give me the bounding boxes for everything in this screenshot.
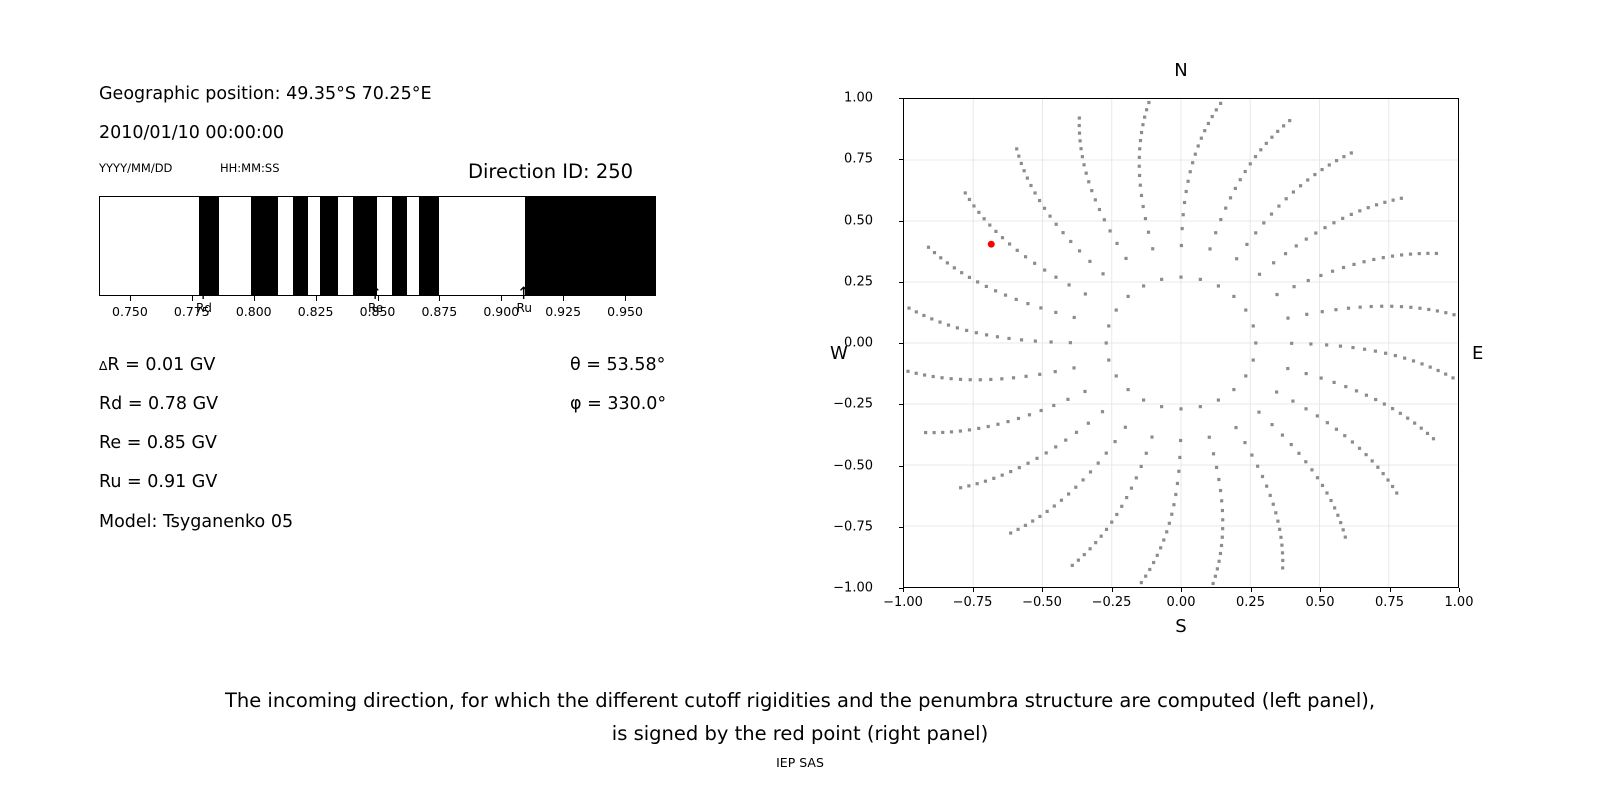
direction-dot — [1374, 398, 1377, 401]
direction-dot — [1130, 487, 1133, 490]
penumbra-bar-container — [99, 196, 656, 296]
direction-dot — [969, 378, 972, 381]
direction-dot — [1444, 373, 1447, 376]
direction-dot — [1321, 310, 1324, 313]
direction-dot — [1355, 389, 1358, 392]
x-axis-tick — [973, 588, 974, 592]
direction-dot — [1009, 531, 1012, 534]
penumbra-forbidden-band — [320, 197, 337, 295]
arrow-up-icon: ↑ — [368, 288, 382, 301]
direction-dot — [1358, 447, 1361, 450]
direction-dot — [1034, 339, 1037, 342]
direction-dot — [1359, 306, 1362, 309]
penumbra-forbidden-band — [293, 197, 308, 295]
direction-dot — [1320, 376, 1323, 379]
direction-dot — [1276, 130, 1279, 133]
direction-dot — [1436, 369, 1439, 372]
direction-dot — [1212, 582, 1215, 585]
y-axis-tick-label: −1.00 — [833, 581, 873, 596]
direction-dot — [1328, 163, 1331, 166]
direction-dot — [1127, 295, 1130, 298]
direction-dot — [1191, 161, 1194, 164]
scatter-plot-svg — [904, 99, 1458, 587]
direction-dot — [1277, 204, 1280, 207]
direction-dot — [1426, 432, 1429, 435]
direction-dot — [1329, 499, 1332, 502]
value-phi: φ = 330.0° — [570, 394, 666, 414]
direction-dot — [1371, 459, 1374, 462]
penumbra-axis-tick — [625, 296, 626, 301]
penumbra-forbidden-band — [353, 197, 378, 295]
penumbra-axis: 0.7500.7750.8000.8250.8500.8750.9000.925… — [99, 296, 656, 308]
direction-dot — [1064, 439, 1067, 442]
left-panel: Geographic position: 49.35°S 70.25°E 201… — [0, 0, 800, 680]
direction-dot — [1250, 453, 1253, 456]
x-axis-tick — [1459, 588, 1460, 592]
direction-dot — [1140, 131, 1143, 134]
direction-dot — [1115, 374, 1118, 377]
geographic-position-text: Geographic position: 49.35°S 70.25°E — [99, 84, 432, 104]
direction-dot — [1418, 307, 1421, 310]
direction-dot — [1342, 266, 1345, 269]
direction-dot — [1305, 238, 1308, 241]
direction-dot — [1017, 417, 1020, 420]
direction-dot — [1147, 231, 1150, 234]
direction-dot — [1046, 510, 1049, 513]
direction-dot — [976, 482, 979, 485]
direction-dot — [1000, 377, 1003, 380]
direction-dot — [1077, 559, 1080, 562]
direction-dot — [907, 306, 910, 309]
direction-dot — [1039, 306, 1042, 309]
direction-dot — [1276, 520, 1279, 523]
direction-dot — [1105, 341, 1108, 344]
direction-dot — [1292, 285, 1295, 288]
direction-dot — [1181, 227, 1184, 230]
direction-dot — [1364, 453, 1367, 456]
direction-dot — [979, 378, 982, 381]
direction-dot — [1219, 552, 1222, 555]
direction-dot — [1427, 308, 1430, 311]
direction-dot — [1055, 223, 1058, 226]
direction-dot — [1313, 173, 1316, 176]
direction-dot — [1284, 252, 1287, 255]
direction-dot — [1078, 116, 1081, 119]
direction-dot — [994, 230, 997, 233]
direction-dot — [1006, 420, 1009, 423]
direction-dot — [1342, 528, 1345, 531]
direction-dot — [1392, 199, 1395, 202]
direction-dot — [1249, 162, 1252, 165]
direction-dot — [1394, 354, 1397, 357]
figure-caption: The incoming direction, for which the di… — [0, 684, 1600, 750]
x-axis-tick-label: −0.25 — [1092, 595, 1132, 610]
direction-dot — [1235, 257, 1238, 260]
direction-dot — [1179, 439, 1182, 442]
direction-dot — [1331, 270, 1334, 273]
direction-dot — [1362, 260, 1365, 263]
direction-dot — [1426, 252, 1429, 255]
direction-dot — [1429, 366, 1432, 369]
direction-dot — [1321, 484, 1324, 487]
direction-dot — [1038, 373, 1041, 376]
direction-dot — [906, 370, 909, 373]
direction-dot — [1275, 293, 1278, 296]
direction-dot — [1009, 470, 1012, 473]
direction-dot — [1280, 544, 1283, 547]
y-axis-tick-label: 0.25 — [844, 274, 873, 289]
penumbra-axis-tick — [563, 296, 564, 301]
direction-dot — [1281, 433, 1284, 436]
y-axis-tick-label: 0.75 — [844, 152, 873, 167]
direction-dot — [1075, 431, 1078, 434]
footer-text: IEP SAS — [0, 755, 1600, 770]
direction-dot — [1043, 207, 1046, 210]
direction-dot — [1307, 279, 1310, 282]
direction-dot — [1254, 231, 1257, 234]
direction-dot — [1367, 206, 1370, 209]
x-axis-tick — [1042, 588, 1043, 592]
direction-dot — [1072, 366, 1075, 369]
direction-dot — [959, 378, 962, 381]
direction-dot — [1239, 178, 1242, 181]
plot-frame — [903, 98, 1459, 588]
direction-dot — [1400, 253, 1403, 256]
direction-dot — [1406, 417, 1409, 420]
direction-dot — [1018, 466, 1021, 469]
direction-dot — [1135, 476, 1138, 479]
direction-dot — [1078, 124, 1081, 127]
direction-dot — [959, 486, 962, 489]
date-format-hint: YYYY/MM/DD — [99, 161, 172, 175]
direction-dot — [1066, 398, 1069, 401]
direction-dot — [1220, 544, 1223, 547]
direction-dot — [1186, 180, 1189, 183]
direction-dot — [988, 223, 991, 226]
direction-dot — [1272, 503, 1275, 506]
penumbra-axis-tick-label: 0.800 — [236, 304, 272, 319]
direction-dot — [1343, 434, 1346, 437]
direction-dot — [1017, 155, 1020, 158]
direction-dot — [976, 280, 979, 283]
direction-dot — [1391, 485, 1394, 488]
direction-dot — [1015, 298, 1018, 301]
direction-dot — [1334, 308, 1337, 311]
direction-dot — [1214, 231, 1217, 234]
direction-dot — [1278, 528, 1281, 531]
direction-dot — [1053, 504, 1056, 507]
direction-dot — [1265, 142, 1268, 145]
direction-dot — [1316, 476, 1319, 479]
direction-dot — [1245, 243, 1248, 246]
direction-dot — [1125, 496, 1128, 499]
direction-dot — [1127, 388, 1130, 391]
x-axis-tick — [1181, 588, 1182, 592]
direction-dot — [1214, 575, 1217, 578]
direction-dot — [1288, 119, 1291, 122]
penumbra-forbidden-band — [419, 197, 439, 295]
direction-dot — [1140, 194, 1143, 197]
direction-dot — [1220, 499, 1223, 502]
direction-dot — [968, 198, 971, 201]
direction-dot — [1215, 108, 1218, 111]
direction-dot — [1208, 247, 1211, 250]
compass-label-south: S — [1175, 616, 1186, 637]
direction-dot — [1089, 470, 1092, 473]
direction-dot — [1180, 244, 1183, 247]
direction-dot — [1110, 521, 1113, 524]
direction-dot — [994, 289, 997, 292]
direction-dot — [1028, 413, 1031, 416]
direction-dot — [1107, 324, 1110, 327]
direction-dot — [1435, 252, 1438, 255]
direction-dot — [1115, 242, 1118, 245]
direction-dot — [1012, 376, 1015, 379]
direction-dot — [1221, 518, 1224, 521]
direction-dot — [1108, 229, 1111, 232]
direction-dot — [1350, 151, 1353, 154]
penumbra-axis-tick-label: 0.925 — [545, 304, 581, 319]
direction-dot — [1281, 566, 1284, 569]
direction-dot — [940, 376, 943, 379]
direction-dot — [1148, 568, 1151, 571]
direction-dot — [1141, 123, 1144, 126]
direction-dot — [1386, 478, 1389, 481]
direction-dot — [1320, 168, 1323, 171]
direction-dot — [1436, 309, 1439, 312]
direction-dot — [1162, 538, 1165, 541]
direction-dot — [1412, 359, 1415, 362]
direction-dot — [1452, 313, 1455, 316]
direction-dot — [1090, 189, 1093, 192]
direction-dot — [1151, 247, 1154, 250]
direction-dot — [1351, 346, 1354, 349]
direction-dot — [1281, 551, 1284, 554]
direction-dot — [1400, 197, 1403, 200]
penumbra-axis-tick-label: 0.875 — [421, 304, 457, 319]
direction-dot — [1409, 253, 1412, 256]
direction-dot — [1351, 440, 1354, 443]
direction-dot — [1217, 284, 1220, 287]
direction-dot — [1078, 132, 1081, 135]
direction-dot — [1124, 257, 1127, 260]
direction-dot — [1217, 478, 1220, 481]
direction-dot — [964, 191, 967, 194]
direction-dot — [1420, 362, 1423, 365]
direction-dot — [1194, 153, 1197, 156]
direction-dot — [1290, 443, 1293, 446]
direction-dot — [1314, 231, 1317, 234]
direction-dot — [1399, 412, 1402, 415]
direction-dot — [1384, 352, 1387, 355]
value-delta-r: ∆R = 0.01 GV — [99, 355, 215, 375]
direction-dot — [1252, 358, 1255, 361]
direction-dot — [1403, 357, 1406, 360]
direction-dot — [1270, 136, 1273, 139]
direction-dot — [1124, 426, 1127, 429]
direction-dot — [933, 251, 936, 254]
direction-dot — [953, 266, 956, 269]
direction-dot — [1152, 561, 1155, 564]
direction-dot — [1291, 399, 1294, 402]
direction-dot — [1176, 482, 1179, 485]
direction-dot — [1344, 536, 1347, 539]
direction-dot — [1035, 457, 1038, 460]
direction-dot — [959, 429, 962, 432]
direction-dot — [1144, 575, 1147, 578]
direction-dot — [972, 204, 975, 207]
direction-dot — [1197, 144, 1200, 147]
direction-dot — [1370, 305, 1373, 308]
direction-dot — [1306, 178, 1309, 181]
direction-dot — [1103, 218, 1106, 221]
direction-dot — [1304, 460, 1307, 463]
direction-dot — [1138, 165, 1141, 168]
direction-dot — [1409, 306, 1412, 309]
direction-dot — [983, 217, 986, 220]
direction-dot — [1087, 422, 1090, 425]
direction-dot — [1054, 276, 1057, 279]
direction-dot — [1297, 452, 1300, 455]
direction-dot — [1316, 414, 1319, 417]
y-axis-tick — [899, 527, 903, 528]
direction-dot — [927, 246, 930, 249]
direction-dot — [965, 329, 968, 332]
penumbra-axis-tick — [254, 296, 255, 301]
direction-dot — [1391, 407, 1394, 410]
penumbra-marker-rd: ↑Rd — [196, 288, 210, 316]
direction-dot — [1115, 308, 1118, 311]
direction-dot — [930, 317, 933, 320]
direction-dot — [1138, 174, 1141, 177]
direction-dot — [1020, 162, 1023, 165]
direction-dot — [1339, 345, 1342, 348]
direction-dot — [1413, 422, 1416, 425]
direction-dot — [1094, 198, 1097, 201]
direction-dot — [1020, 338, 1023, 341]
direction-dot — [1295, 244, 1298, 247]
direction-id-text: Direction ID: 250 — [468, 160, 633, 183]
direction-dot — [977, 211, 980, 214]
direction-dot — [1451, 376, 1454, 379]
compass-label-north: N — [1174, 60, 1187, 81]
direction-dot — [1332, 221, 1335, 224]
direction-dot — [1078, 249, 1081, 252]
direction-dot — [1189, 170, 1192, 173]
direction-dot — [1383, 402, 1386, 405]
y-axis-tick — [899, 98, 903, 99]
direction-dot — [1179, 407, 1182, 410]
direction-dot — [1101, 272, 1104, 275]
direction-dot — [1285, 197, 1288, 200]
direction-dot — [1140, 581, 1143, 584]
direction-dot — [1142, 284, 1145, 287]
direction-dot — [1071, 564, 1074, 567]
direction-dot — [1325, 491, 1328, 494]
y-axis-tick-label: 0.00 — [844, 336, 873, 351]
value-re: Re = 0.85 GV — [99, 433, 217, 453]
direction-dot — [1113, 440, 1116, 443]
direction-dot — [1286, 317, 1289, 320]
time-format-hint: HH:MM:SS — [220, 161, 280, 175]
direction-dot — [1221, 509, 1224, 512]
direction-dot — [938, 321, 941, 324]
direction-dot — [1365, 394, 1368, 397]
direction-dot — [1083, 553, 1086, 556]
direction-dot — [1094, 541, 1097, 544]
direction-dot — [1033, 262, 1036, 265]
arrow-up-icon: ↑ — [517, 288, 531, 301]
direction-dot — [1310, 468, 1313, 471]
direction-dot — [1024, 375, 1027, 378]
direction-dot — [1185, 190, 1188, 193]
direction-dot — [1244, 374, 1247, 377]
direction-dot — [1138, 147, 1141, 150]
direction-dot — [1319, 274, 1322, 277]
direction-dot — [1144, 217, 1147, 220]
penumbra-axis-tick — [439, 296, 440, 301]
direction-dot — [1182, 213, 1185, 216]
direction-dot — [1212, 452, 1215, 455]
penumbra-forbidden-band — [199, 197, 219, 295]
direction-dot — [922, 314, 925, 317]
direction-dot — [1179, 276, 1182, 279]
direction-dot — [1374, 350, 1377, 353]
caption-line-2: is signed by the red point (right panel) — [0, 717, 1600, 750]
y-axis-tick-label: −0.50 — [833, 458, 873, 473]
direction-dot — [1244, 308, 1247, 311]
direction-dot — [1139, 184, 1142, 187]
direction-dot — [1040, 409, 1043, 412]
direction-dot — [1224, 207, 1227, 210]
direction-dot — [1200, 137, 1203, 140]
direction-dot — [932, 375, 935, 378]
direction-dot — [1290, 342, 1293, 345]
direction-dot — [1054, 370, 1057, 373]
direction-dot — [1380, 305, 1383, 308]
direction-dot — [1069, 341, 1072, 344]
direction-dot — [1052, 404, 1055, 407]
direction-scatter-panel: N S W E −1.00−0.75−0.50−0.250.000.250.50… — [820, 40, 1520, 660]
direction-dot — [1221, 536, 1224, 539]
direction-dot — [1015, 147, 1018, 150]
direction-dot — [1432, 437, 1435, 440]
x-axis-tick — [1251, 588, 1252, 592]
direction-dot — [1350, 213, 1353, 216]
direction-dot — [1178, 456, 1181, 459]
direction-dot — [996, 335, 999, 338]
y-axis-tick — [899, 282, 903, 283]
direction-dot — [1138, 156, 1141, 159]
direction-dot — [939, 256, 942, 259]
direction-dot — [1160, 405, 1163, 408]
direction-dot — [1067, 283, 1070, 286]
direction-dot — [1001, 236, 1004, 239]
direction-dot — [933, 431, 936, 434]
direction-dot — [1219, 218, 1222, 221]
direction-dot — [1098, 208, 1101, 211]
direction-dot — [996, 423, 999, 426]
direction-dot — [1207, 122, 1210, 125]
direction-dot — [1376, 466, 1379, 469]
direction-dot — [1203, 129, 1206, 132]
direction-dot — [1060, 499, 1063, 502]
direction-dot — [1216, 567, 1219, 570]
direction-dot — [1292, 190, 1295, 193]
direction-dot — [1024, 524, 1027, 527]
direction-dot — [1342, 155, 1345, 158]
direction-dot — [1208, 436, 1211, 439]
